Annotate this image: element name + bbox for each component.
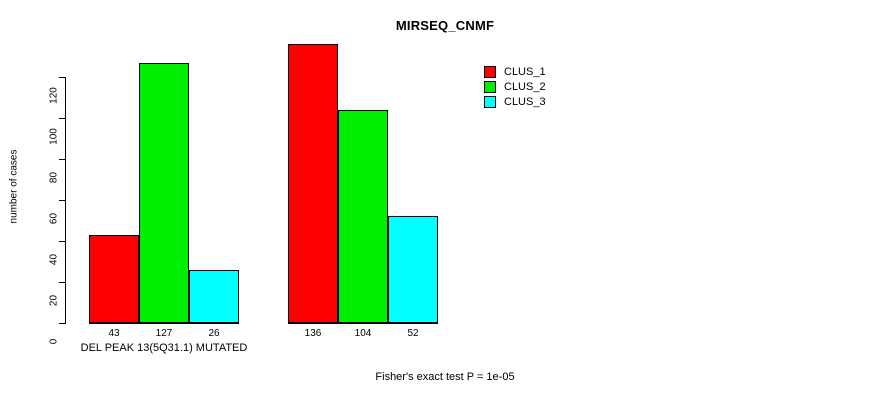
bar-clus_2-group1[interactable] — [139, 63, 189, 323]
bar-clus_3-group2[interactable] — [388, 216, 438, 323]
y-axis-title: number of cases — [9, 137, 20, 237]
legend-item-label: CLUS_3 — [504, 96, 546, 108]
x-axis-group-label: DEL PEAK 13(5Q31.1) MUTATED — [59, 342, 269, 354]
x-axis-baseline — [288, 323, 438, 324]
y-axis-tick — [59, 118, 65, 119]
bar-value-label: 104 — [338, 328, 388, 339]
y-axis-tick — [59, 159, 65, 160]
chart-container: MIRSEQ_CNMF 020406080100120 number of ca… — [0, 0, 890, 400]
y-axis-tick-label: 80 — [49, 158, 60, 198]
legend-item[interactable]: CLUS_1 — [484, 64, 546, 79]
bar-value-label: 43 — [89, 328, 139, 339]
y-axis-tick — [59, 282, 65, 283]
legend-item-label: CLUS_1 — [504, 66, 546, 78]
legend-item-label: CLUS_2 — [504, 81, 546, 93]
y-axis-line — [65, 77, 66, 324]
legend-item[interactable]: CLUS_3 — [484, 94, 546, 109]
legend-swatch-icon — [484, 66, 496, 78]
y-axis-tick — [59, 77, 65, 78]
y-axis-tick-label: 20 — [49, 281, 60, 321]
bar-clus_2-group2[interactable] — [338, 110, 388, 323]
y-axis-tick — [59, 200, 65, 201]
y-axis-tick — [59, 241, 65, 242]
y-axis-tick — [59, 323, 65, 324]
y-axis-tick-label: 100 — [49, 117, 60, 157]
bar-value-label: 26 — [189, 328, 239, 339]
legend-swatch-icon — [484, 96, 496, 108]
x-axis-baseline — [89, 323, 239, 324]
plot-area: 020406080100120 number of cases 4312726D… — [0, 0, 890, 400]
legend-item[interactable]: CLUS_2 — [484, 79, 546, 94]
bar-value-label: 52 — [388, 328, 438, 339]
y-axis-tick-label: 40 — [49, 240, 60, 280]
bar-clus_3-group1[interactable] — [189, 270, 239, 323]
legend-swatch-icon — [484, 81, 496, 93]
bar-clus_1-group1[interactable] — [89, 235, 139, 323]
bar-value-label: 127 — [139, 328, 189, 339]
bar-clus_1-group2[interactable] — [288, 44, 338, 323]
legend: CLUS_1CLUS_2CLUS_3 — [484, 64, 546, 109]
bar-value-label: 136 — [288, 328, 338, 339]
y-axis-tick-label: 120 — [49, 76, 60, 116]
footnote-statistic: Fisher's exact test P = 1e-05 — [0, 371, 890, 383]
y-axis-tick-label: 60 — [49, 199, 60, 239]
y-axis-tick-label: 0 — [49, 322, 60, 362]
